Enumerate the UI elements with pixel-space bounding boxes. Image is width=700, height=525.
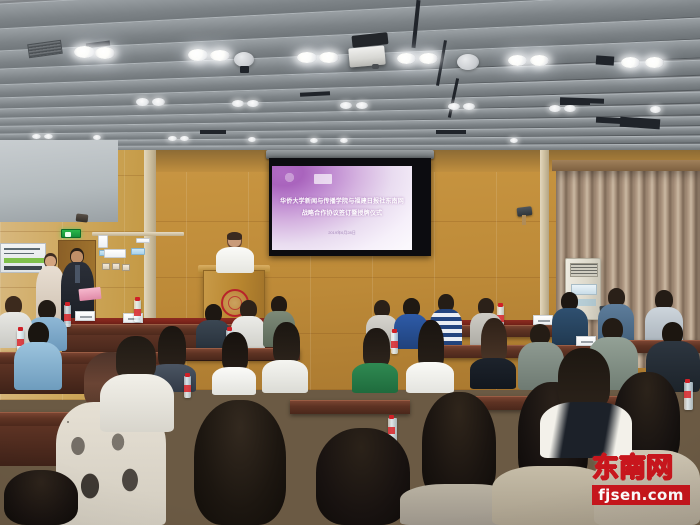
hair-long	[558, 348, 610, 410]
hair-long	[273, 322, 300, 364]
ceiling-downlight	[74, 46, 95, 58]
wall-socket[interactable]	[112, 263, 120, 270]
ceiling-downlight	[419, 53, 438, 64]
hair	[227, 232, 242, 240]
wall-notice	[136, 238, 150, 243]
wall-socket[interactable]	[122, 264, 130, 271]
ceiling-open-panel	[560, 99, 590, 105]
ceiling-seam	[200, 130, 226, 134]
ac-grill	[570, 263, 598, 277]
torso	[14, 342, 62, 390]
photo-conference-room: 华侨大学新闻与传播学院与福建日报社东南网 战略合作协议签订暨授牌仪式 2019年…	[0, 0, 700, 525]
audience-member-foreground	[0, 470, 90, 525]
ceiling-downlight	[188, 49, 208, 61]
ceiling-mount	[240, 66, 249, 73]
slide-title-line1: 华侨大学新闻与传播学院与福建日报社东南网	[276, 196, 408, 208]
audience-member	[352, 328, 398, 392]
wall-notice	[98, 235, 108, 248]
water-bottle	[134, 300, 141, 322]
ceiling-downlight	[650, 106, 661, 113]
slide-title-line2: 战略合作协议签订暨授牌仪式	[276, 208, 408, 220]
torso-green	[352, 363, 398, 393]
upper-wall-panel	[0, 140, 118, 222]
name-card-placard	[75, 311, 95, 321]
ceiling-downlight	[645, 57, 664, 68]
ceiling-downlight	[397, 53, 416, 64]
audience-member	[470, 318, 516, 388]
torso	[100, 374, 174, 432]
ceiling-downlight	[310, 138, 318, 143]
ceiling-downlight	[297, 52, 317, 63]
speaker-at-podium	[214, 232, 256, 272]
ceiling-seam	[436, 130, 466, 134]
hair-long	[4, 470, 78, 525]
pink-folder	[78, 287, 101, 301]
emergency-exit-sign	[61, 229, 81, 238]
ceiling	[0, 0, 700, 162]
ceiling-downlight	[152, 98, 165, 106]
water-bottle	[184, 376, 191, 398]
ceiling-downlight	[180, 136, 189, 141]
audience-member	[14, 322, 62, 390]
hair-long	[194, 400, 286, 525]
torso	[262, 360, 308, 393]
ceiling-downlight	[210, 50, 230, 61]
fjsen-logo	[314, 174, 332, 184]
ceiling-downlight	[564, 105, 576, 112]
torso	[212, 367, 256, 395]
wall-notice	[131, 248, 145, 255]
curtain-rod	[552, 160, 700, 171]
audience-member-foreground	[176, 400, 304, 525]
hair-long	[222, 332, 248, 372]
wall-notice	[104, 249, 126, 258]
ceiling-downlight	[549, 105, 561, 112]
ceiling-open-panel	[596, 55, 615, 65]
ceiling-downlight	[232, 100, 244, 107]
huaqiao-university-logo	[281, 171, 298, 190]
torso-pinafore	[540, 402, 632, 458]
ceiling-downlight	[448, 103, 460, 110]
ceiling-downlight	[621, 57, 640, 68]
ceiling-downlight	[136, 98, 149, 106]
ceiling-downlight	[510, 138, 518, 143]
ceiling-downlight	[248, 137, 256, 142]
ceiling-downlight	[463, 103, 475, 110]
ceiling-downlight	[32, 134, 41, 139]
audience-member	[212, 332, 256, 394]
ceiling-downlight	[356, 102, 368, 109]
ceiling-downlight	[44, 134, 53, 139]
audience-member	[540, 348, 632, 458]
torso-white-shirt	[216, 247, 254, 273]
necktie	[75, 265, 80, 283]
hair-long	[316, 428, 410, 525]
ceiling-downlight	[319, 52, 339, 63]
ceiling-downlight	[340, 138, 348, 143]
ceiling-downlight	[530, 55, 549, 66]
ceiling-downlight	[340, 102, 352, 109]
slide-date: 2019年6月28日	[272, 230, 412, 236]
projection-slide: 华侨大学新闻与传播学院与福建日报社东南网 战略合作协议签订暨授牌仪式 2019年…	[272, 166, 412, 250]
ceiling-downlight	[247, 100, 259, 107]
torso	[594, 450, 700, 525]
wall-socket[interactable]	[102, 263, 110, 270]
projector-lens	[372, 64, 379, 69]
ceiling-projector	[348, 45, 386, 67]
ceiling-speaker-dome	[234, 52, 254, 67]
torso-white-blouse	[406, 362, 454, 393]
ceiling-downlight	[95, 47, 115, 59]
ceiling-speaker-dome	[457, 54, 479, 70]
ceiling-downlight	[508, 55, 527, 66]
wall-speaker-bracket	[522, 215, 526, 225]
audience-member	[406, 320, 454, 392]
audience-desk	[290, 400, 410, 414]
wall-speaker	[76, 213, 89, 222]
slide-title: 华侨大学新闻与传播学院与福建日报社东南网 战略合作协议签订暨授牌仪式	[276, 196, 408, 220]
audience-member	[262, 322, 308, 392]
hair-long	[363, 328, 390, 368]
ceiling-downlight	[168, 136, 177, 141]
audience-member	[100, 336, 174, 432]
